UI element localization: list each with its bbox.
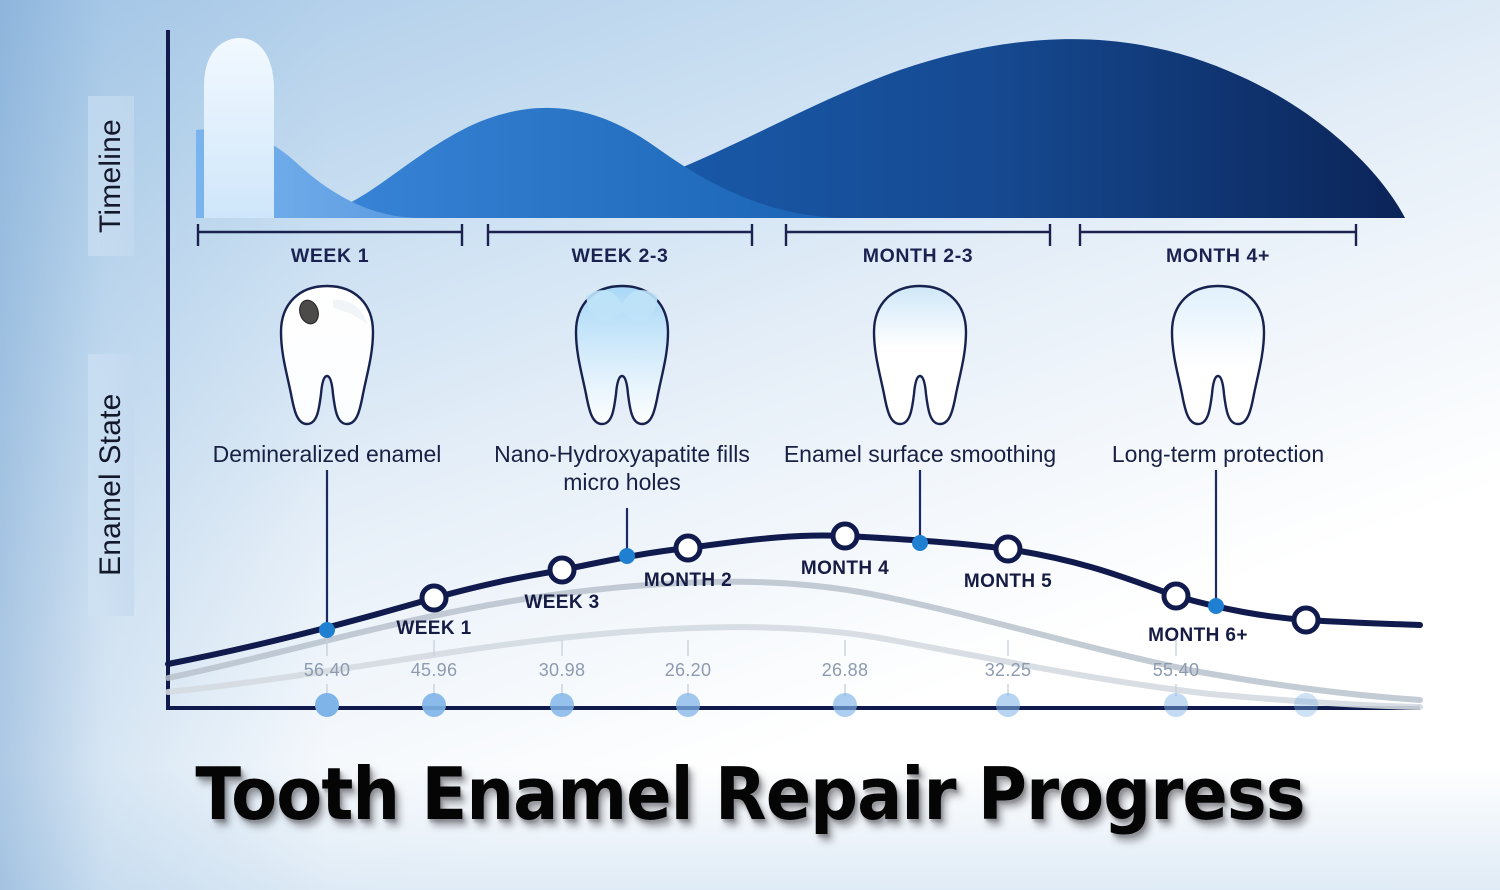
infographic-canvas: Timeline Enamel State WEEK 1WEEK 2-3MONT… — [0, 0, 1500, 890]
curve-marker — [1294, 608, 1318, 632]
curve-point-label: WEEK 1 — [396, 618, 471, 640]
curve-anchor-dot — [319, 622, 335, 638]
curve-marker — [996, 537, 1020, 561]
baseline-dot — [996, 693, 1020, 717]
curve-anchor-dot — [912, 535, 928, 551]
curve-point-label: MONTH 5 — [964, 571, 1052, 593]
curve-anchor-dot — [1208, 598, 1224, 614]
baseline-dot — [315, 693, 339, 717]
curve-anchor-dot — [619, 548, 635, 564]
baseline-dot — [422, 693, 446, 717]
caption-leader-lines — [327, 470, 1216, 630]
baseline-dot — [676, 693, 700, 717]
curve-value-label: 32.25 — [985, 660, 1032, 681]
curve-value-label: 30.98 — [539, 660, 586, 681]
curve-point-label: MONTH 6+ — [1148, 625, 1248, 647]
curve-point-label: WEEK 3 — [524, 592, 599, 614]
baseline-dot — [1164, 693, 1188, 717]
curve-value-label: 56.40 — [304, 660, 351, 681]
curve-marker — [1164, 584, 1188, 608]
curve-point-label: MONTH 4 — [801, 558, 889, 580]
curve-marker — [550, 558, 574, 582]
curve-marker — [833, 524, 857, 548]
page-title: Tooth Enamel Repair Progress — [53, 752, 1448, 836]
curve-value-label: 55.40 — [1153, 660, 1200, 681]
curve-value-label: 26.20 — [665, 660, 712, 681]
baseline-dot — [550, 693, 574, 717]
curve-marker — [422, 586, 446, 610]
curve-value-label: 45.96 — [411, 660, 458, 681]
curve-point-label: MONTH 2 — [644, 570, 732, 592]
baseline-dots — [315, 693, 1318, 717]
baseline-dot — [833, 693, 857, 717]
baseline-dot — [1294, 693, 1318, 717]
curve-marker — [676, 536, 700, 560]
curve-value-label: 26.88 — [822, 660, 869, 681]
